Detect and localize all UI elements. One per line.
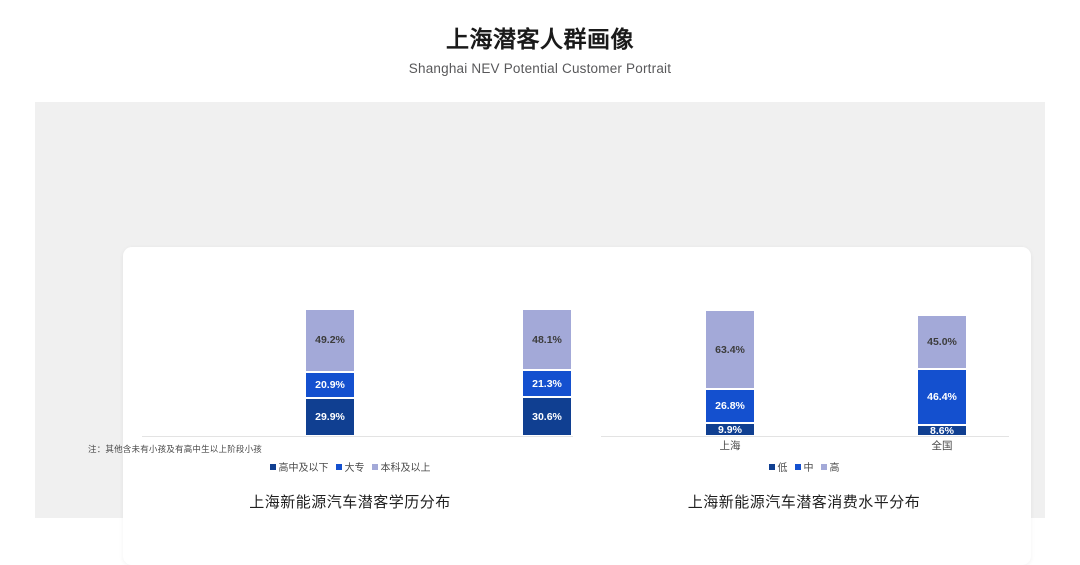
- page-subtitle: Shanghai NEV Potential Customer Portrait: [0, 61, 1080, 76]
- chart-legend: 高中及以下 大专 本科及以上: [123, 459, 577, 474]
- content-panel: 29.9% 20.9% 49.2% 30.6% 21.3% 48.1% 高中及以…: [35, 102, 1045, 518]
- chart-caption: 上海新能源汽车潜客消费水平分布: [577, 491, 1031, 512]
- chart-legend: 低 中 高: [577, 459, 1031, 474]
- legend-swatch-icon: [270, 464, 276, 470]
- bar-segment-mid: 46.4%: [917, 369, 967, 425]
- legend-item[interactable]: 高: [821, 459, 840, 474]
- bar-segment-low: 9.9%: [705, 423, 755, 436]
- bar-segment-mid: 20.9%: [305, 372, 355, 399]
- legend-swatch-icon: [372, 464, 378, 470]
- legend-item[interactable]: 低: [769, 459, 788, 474]
- legend-label: 低: [778, 459, 788, 474]
- bar-segment-high: 63.4%: [705, 310, 755, 389]
- legend-item[interactable]: 大专: [336, 459, 365, 474]
- bar-column[interactable]: 8.6% 46.4% 45.0%: [917, 315, 967, 436]
- legend-item[interactable]: 中: [795, 459, 814, 474]
- plot-area-right: 9.9% 26.8% 63.4% 8.6% 46.4% 45.0%: [577, 247, 1031, 437]
- bar-segment-mid: 26.8%: [705, 389, 755, 423]
- charts-card: 29.9% 20.9% 49.2% 30.6% 21.3% 48.1% 高中及以…: [123, 247, 1031, 565]
- legend-item[interactable]: 高中及以下: [270, 459, 329, 474]
- x-axis-label: 全国: [907, 438, 977, 453]
- bar-segment-high: 45.0%: [917, 315, 967, 369]
- legend-label: 中: [804, 459, 814, 474]
- bar-column[interactable]: 30.6% 21.3% 48.1%: [522, 309, 572, 436]
- page-title: 上海潜客人群画像: [0, 26, 1080, 54]
- legend-label: 本科及以上: [381, 459, 431, 474]
- bar-segment-low: 8.6%: [917, 425, 967, 436]
- bar-segment-low: 30.6%: [522, 397, 572, 436]
- x-axis-labels: 上海 全国: [577, 438, 1031, 456]
- legend-label: 大专: [345, 459, 365, 474]
- chart-education-distribution: 29.9% 20.9% 49.2% 30.6% 21.3% 48.1% 高中及以…: [123, 247, 577, 565]
- footnote: 注：其他含未有小孩及有高中生以上阶段小孩: [88, 443, 262, 455]
- plot-area-left: 29.9% 20.9% 49.2% 30.6% 21.3% 48.1%: [123, 247, 577, 437]
- chart-caption: 上海新能源汽车潜客学历分布: [123, 491, 577, 512]
- page-header: 上海潜客人群画像 Shanghai NEV Potential Customer…: [0, 0, 1080, 76]
- legend-swatch-icon: [821, 464, 827, 470]
- bar-segment-low: 29.9%: [305, 398, 355, 436]
- chart-consumption-level-distribution: 9.9% 26.8% 63.4% 8.6% 46.4% 45.0% 上海 全国 …: [577, 247, 1031, 565]
- bar-column[interactable]: 29.9% 20.9% 49.2%: [305, 309, 355, 436]
- bar-segment-high: 48.1%: [522, 309, 572, 370]
- bar-column[interactable]: 9.9% 26.8% 63.4%: [705, 310, 755, 436]
- bar-segment-mid: 21.3%: [522, 370, 572, 397]
- bar-segment-high: 49.2%: [305, 309, 355, 372]
- x-axis-line: [142, 436, 573, 437]
- legend-label: 高中及以下: [279, 459, 329, 474]
- x-axis-label: 上海: [695, 438, 765, 453]
- legend-swatch-icon: [795, 464, 801, 470]
- legend-item[interactable]: 本科及以上: [372, 459, 431, 474]
- legend-label: 高: [830, 459, 840, 474]
- legend-swatch-icon: [769, 464, 775, 470]
- x-axis-line: [601, 436, 1009, 437]
- legend-swatch-icon: [336, 464, 342, 470]
